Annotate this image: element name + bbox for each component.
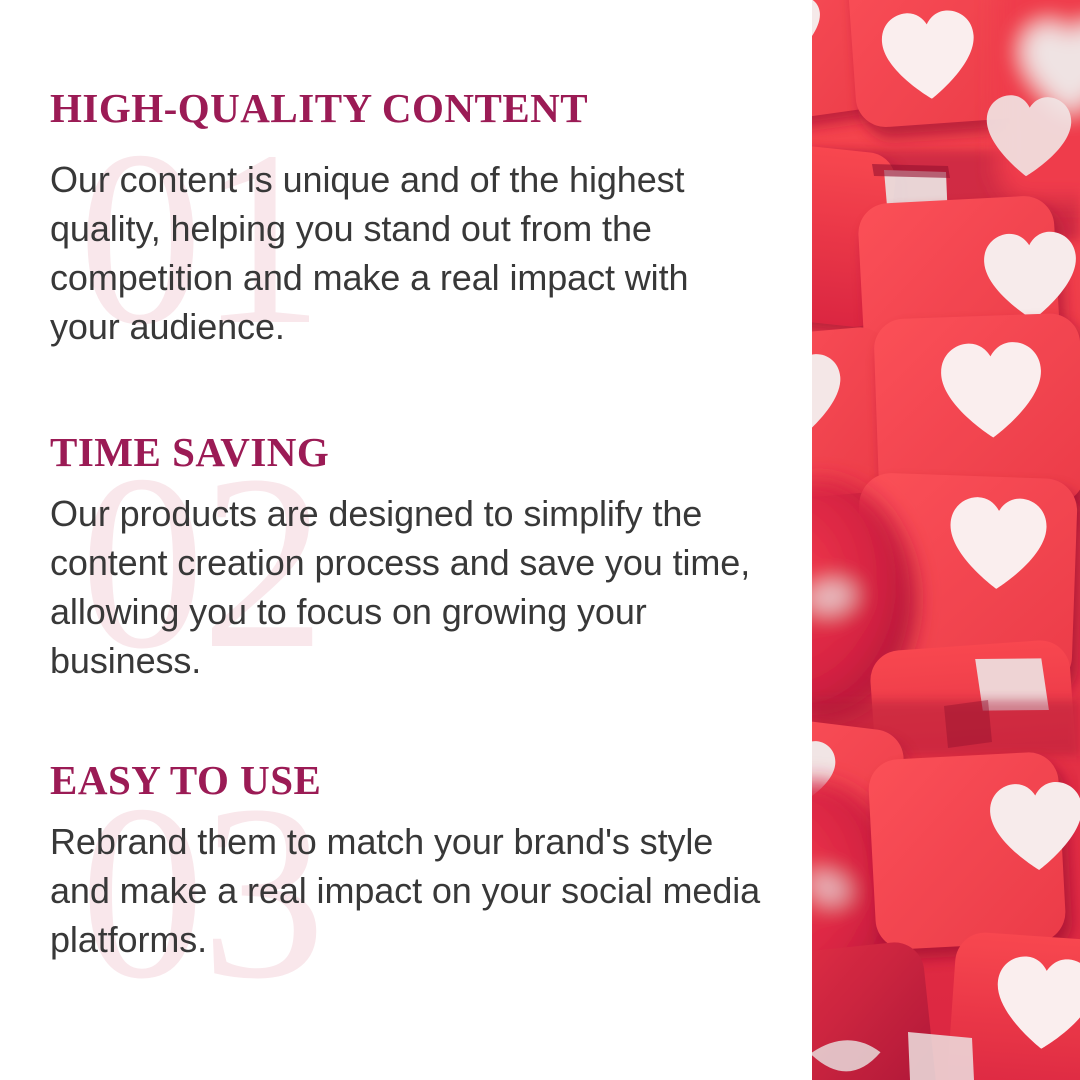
feature-body-1: Our content is unique and of the highest… — [50, 155, 750, 351]
feature-block-3: 03 EASY TO USE Rebrand them to match you… — [50, 760, 780, 964]
feature-block-1: 01 HIGH-QUALITY CONTENT Our content is u… — [50, 88, 780, 351]
feature-body-2: Our products are designed to simplify th… — [50, 489, 765, 685]
feature-heading-3: EASY TO USE — [50, 760, 780, 801]
feature-block-2: 02 TIME SAVING Our products are designed… — [50, 432, 780, 685]
hearts-photo-panel — [812, 0, 1080, 1080]
slide-canvas: 01 HIGH-QUALITY CONTENT Our content is u… — [0, 0, 1080, 1080]
content-column: 01 HIGH-QUALITY CONTENT Our content is u… — [0, 0, 812, 1080]
feature-heading-1: HIGH-QUALITY CONTENT — [50, 88, 780, 129]
hearts-photo-illustration — [812, 0, 1080, 1080]
feature-heading-2: TIME SAVING — [50, 432, 780, 473]
feature-body-3: Rebrand them to match your brand's style… — [50, 817, 765, 964]
